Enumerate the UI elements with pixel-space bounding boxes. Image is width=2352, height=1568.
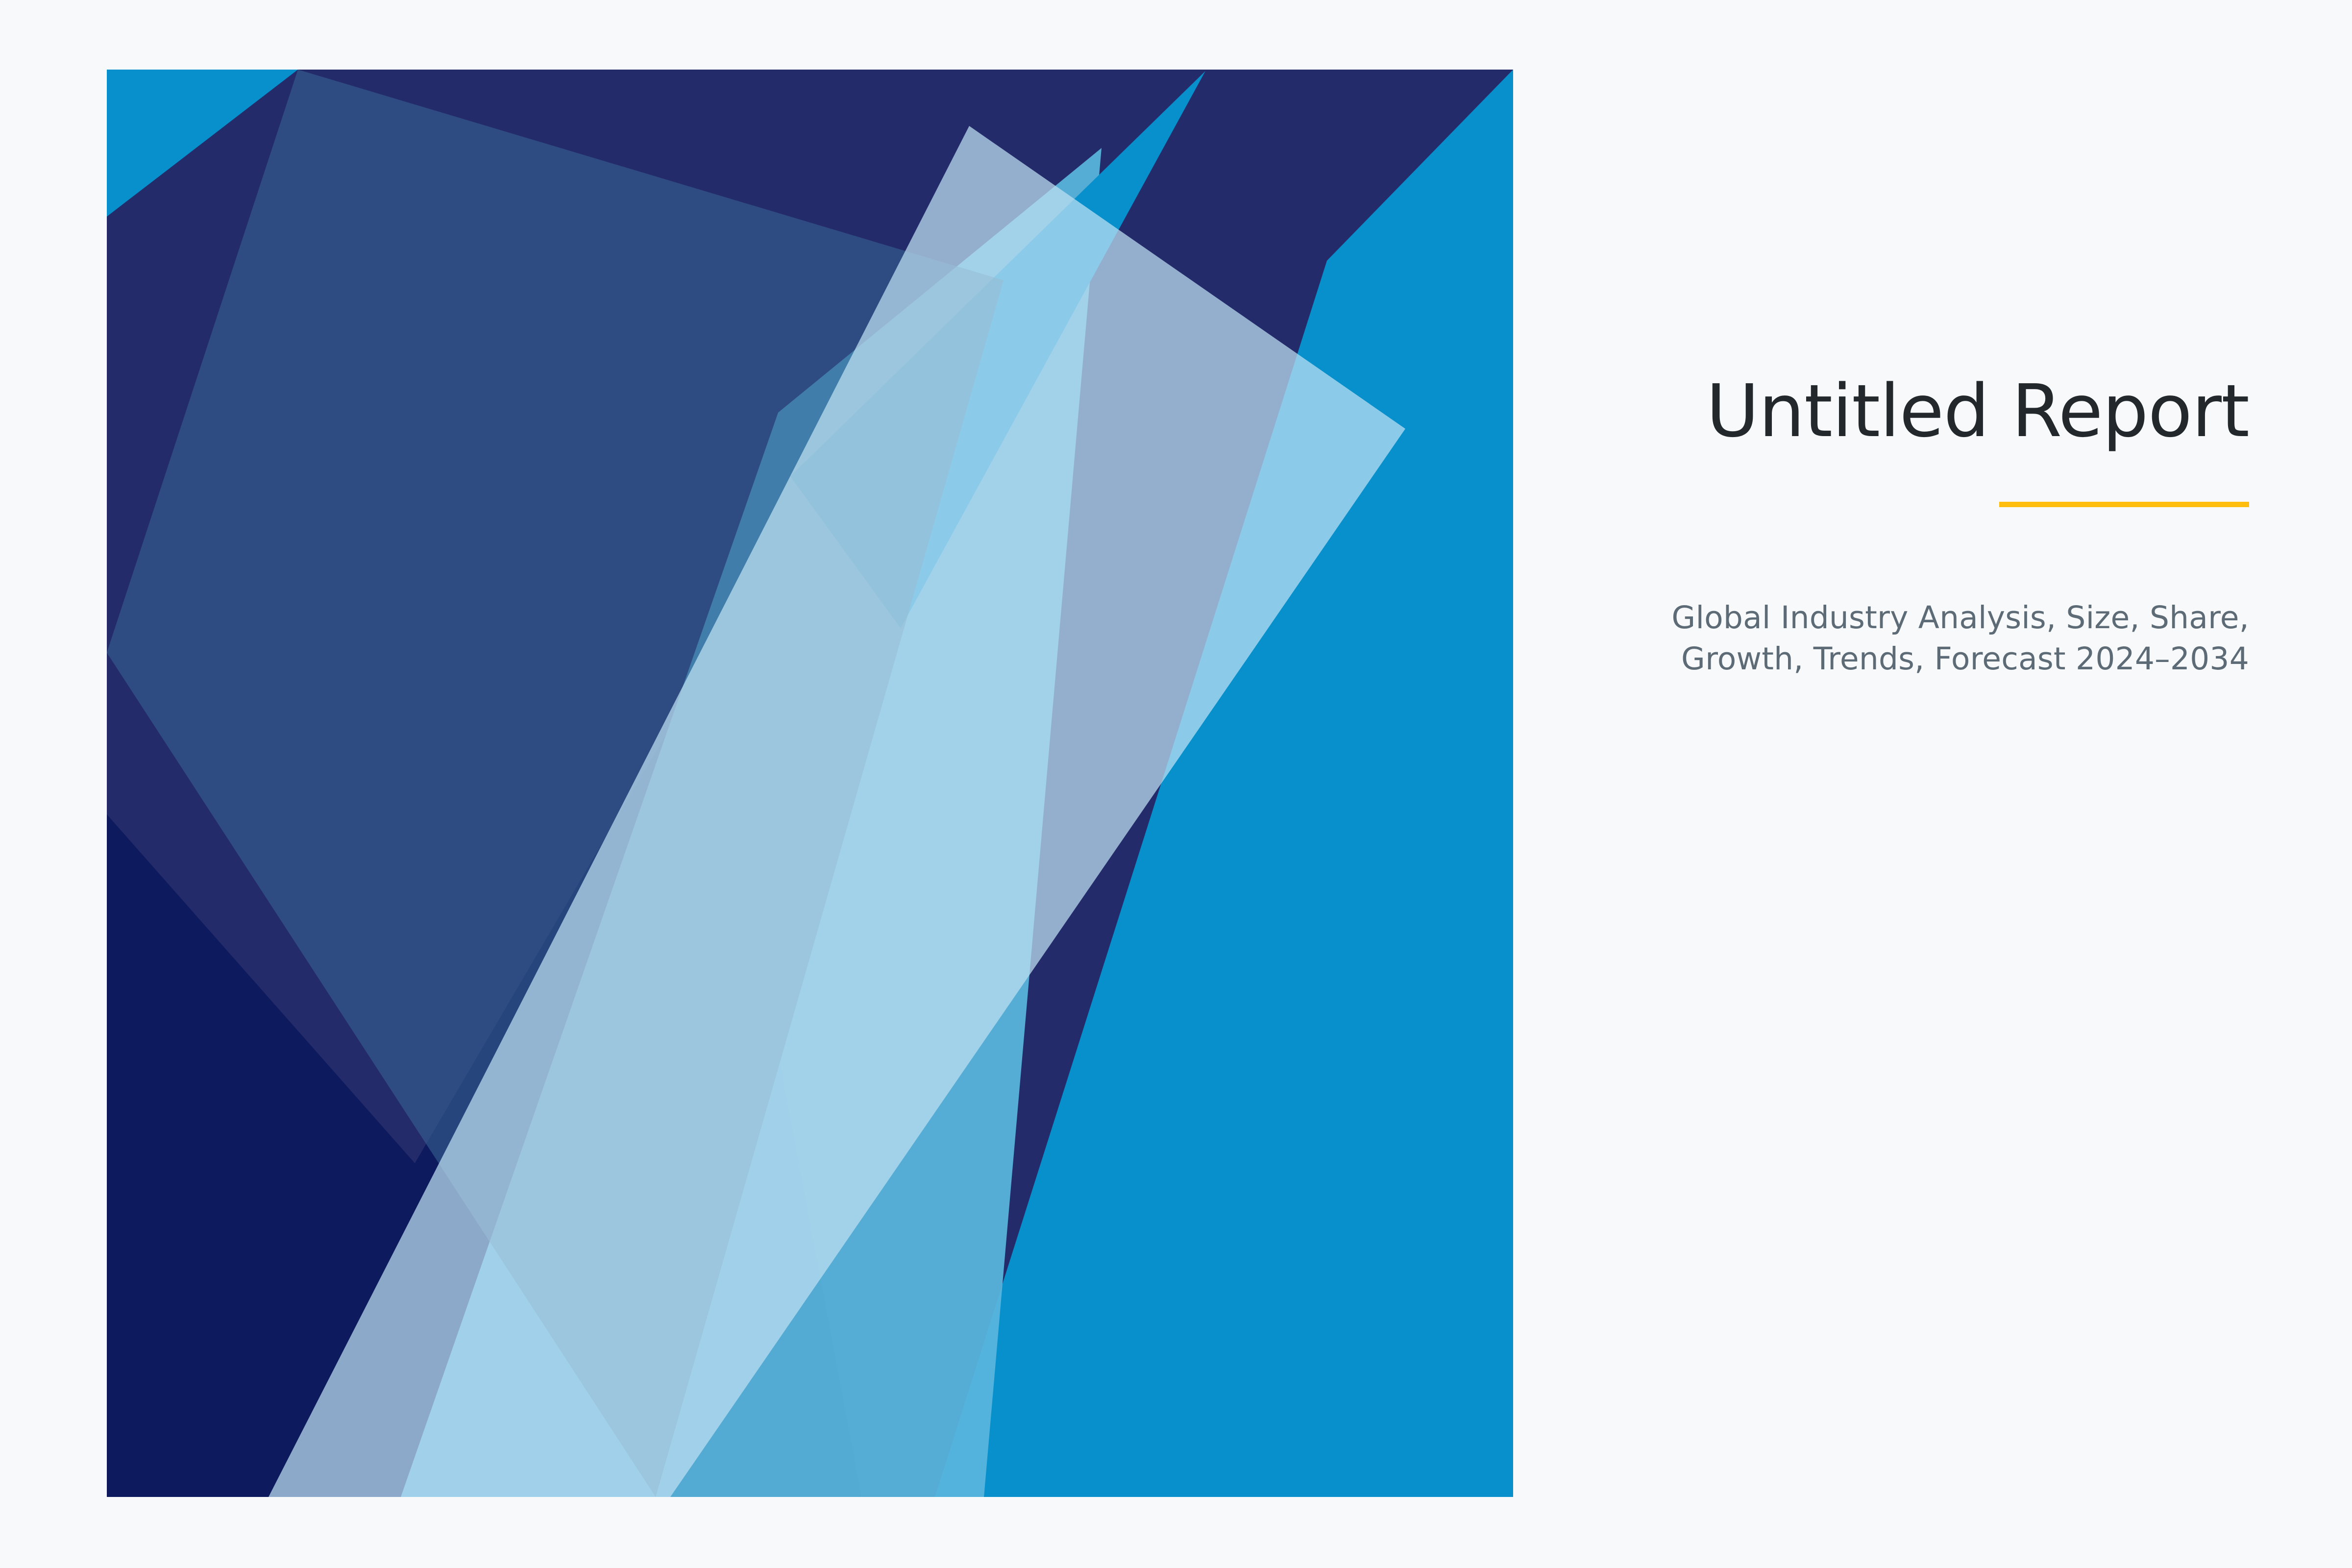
title-accent-rule xyxy=(1999,502,2249,507)
title-rule-wrapper xyxy=(1568,502,2249,507)
report-cover-page: Untitled Report Global Industry Analysis… xyxy=(0,0,2352,1568)
report-subtitle-line-2: Growth, Trends, Forecast 2024–2034 xyxy=(1568,638,2249,680)
cover-text-block: Untitled Report Global Industry Analysis… xyxy=(1568,372,2249,680)
page-title: Untitled Report xyxy=(1568,372,2249,451)
report-subtitle: Global Industry Analysis, Size, Share, G… xyxy=(1568,597,2249,680)
report-subtitle-line-1: Global Industry Analysis, Size, Share, xyxy=(1568,597,2249,638)
abstract-geometric-blue-shards-svg xyxy=(107,70,1513,1497)
cover-artwork xyxy=(107,70,1513,1497)
